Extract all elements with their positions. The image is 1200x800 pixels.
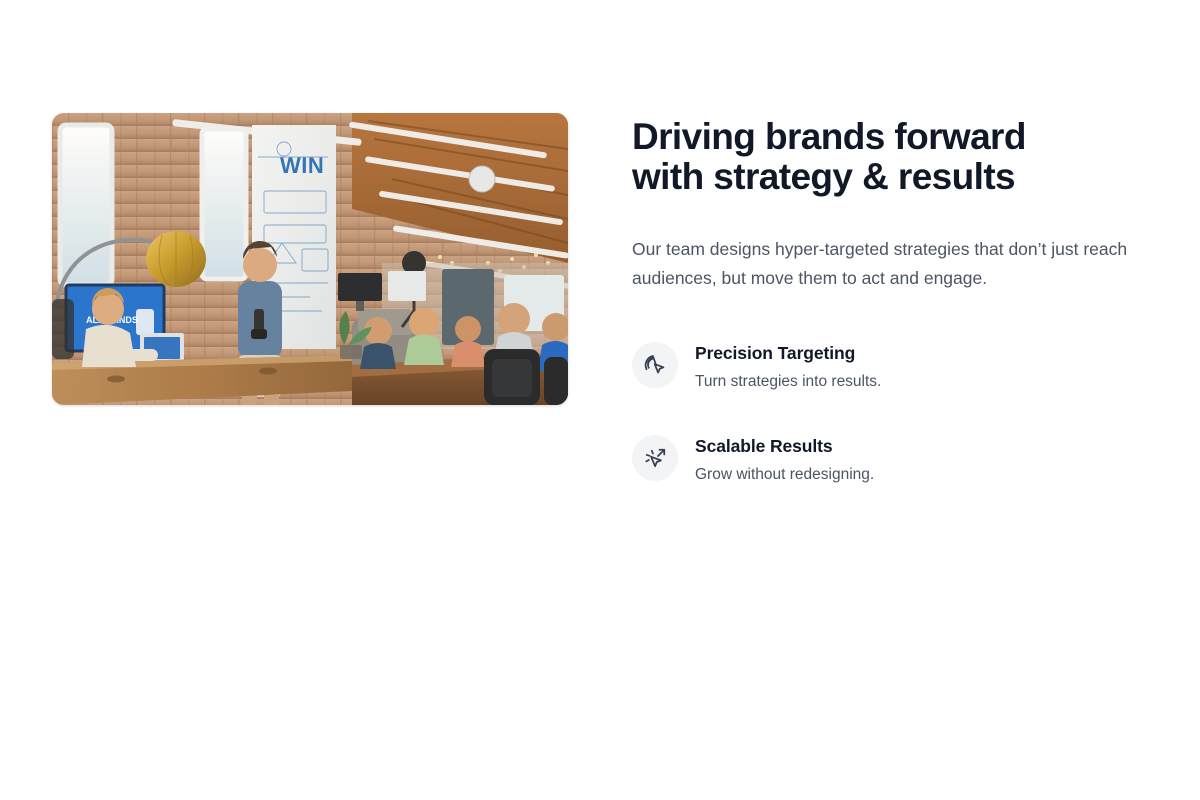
feature-text-block: Precision Targeting Turn strategies into…: [695, 341, 881, 392]
feature-text-block: Scalable Results Grow without redesignin…: [695, 434, 874, 485]
feature-item-scalable-results: Scalable Results Grow without redesignin…: [632, 434, 1148, 485]
copy-column: Driving brands forward with strategy & r…: [632, 113, 1148, 485]
feature-description: Turn strategies into results.: [695, 372, 881, 392]
page-root: WIN Proof ALL HANDS: [0, 0, 1200, 800]
pointer-click-icon: [632, 342, 678, 388]
pointer-expand-icon: [632, 435, 678, 481]
feature-item-precision-targeting: Precision Targeting Turn strategies into…: [632, 341, 1148, 392]
page-title: Driving brands forward with strategy & r…: [632, 117, 1148, 197]
feature-title: Scalable Results: [695, 435, 874, 457]
feature-list: Precision Targeting Turn strategies into…: [632, 341, 1148, 485]
section-subcopy: Our team designs hyper-targeted strategi…: [632, 235, 1148, 293]
feature-title: Precision Targeting: [695, 342, 881, 364]
feature-section: WIN Proof ALL HANDS: [52, 113, 1148, 485]
feature-description: Grow without redesigning.: [695, 465, 874, 485]
office-meeting-photo: WIN Proof ALL HANDS: [52, 113, 568, 405]
